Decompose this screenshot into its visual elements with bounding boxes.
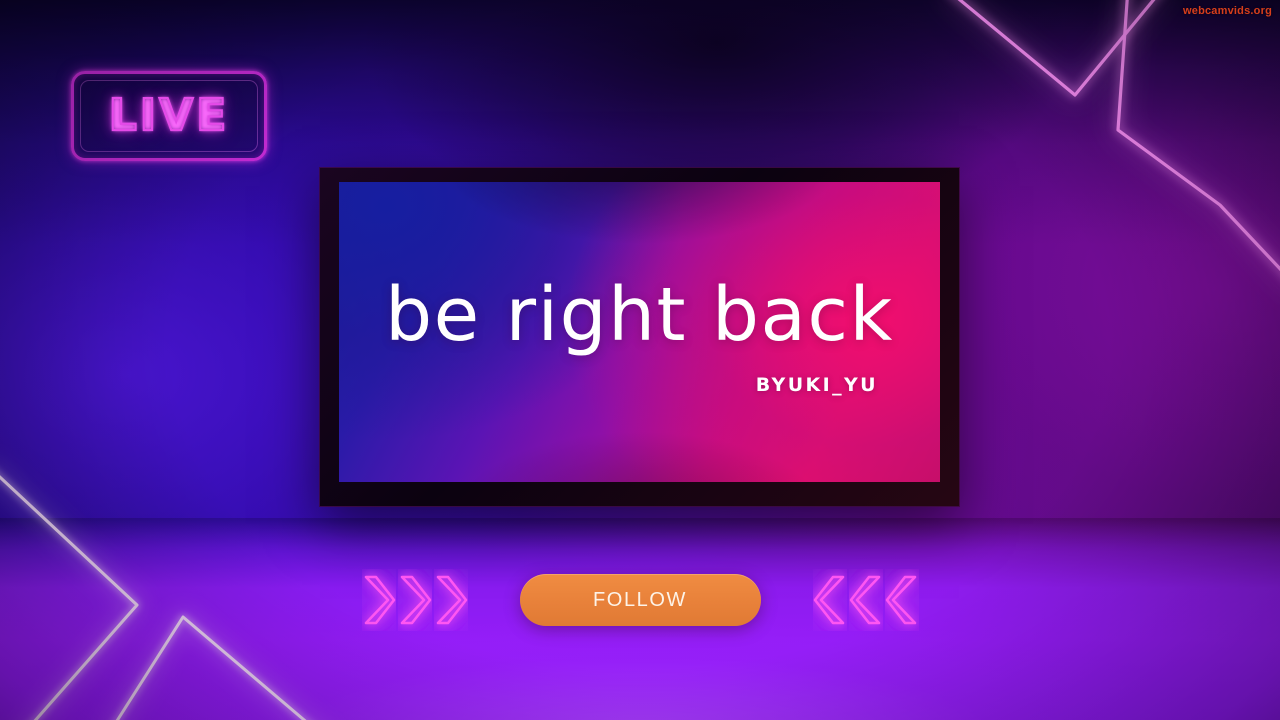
call-to-action-row: FOLLOW: [0, 568, 1280, 632]
neon-line-bottom-left-lower: [108, 617, 330, 720]
chevron-left-icon: [813, 569, 847, 631]
wall-screen: be right back BYUKI_YU: [339, 182, 940, 482]
chevron-right-icon: [434, 569, 468, 631]
chevron-right-icon: [362, 569, 396, 631]
right-chevron-group: [813, 569, 919, 631]
be-right-back-title: be right back: [385, 278, 894, 352]
live-badge-label: LIVE: [109, 94, 230, 138]
left-chevron-group: [362, 569, 468, 631]
neon-line-top-right-outer: [948, 0, 1165, 95]
chevron-right-icon: [398, 569, 432, 631]
streamer-handle-label: BYUKI_YU: [756, 374, 878, 396]
screen-content: be right back BYUKI_YU: [339, 182, 940, 482]
stream-overlay-stage: LIVE be right back BYUKI_YU: [0, 0, 1280, 720]
site-watermark: webcamvids.org: [1183, 5, 1272, 17]
chevron-left-icon: [849, 569, 883, 631]
wall-screen-frame: be right back BYUKI_YU: [320, 168, 959, 506]
chevron-left-icon: [885, 569, 919, 631]
background-floor-seam: [0, 518, 1280, 552]
follow-button[interactable]: FOLLOW: [520, 574, 761, 626]
neon-line-top-right-inner: [1118, 0, 1280, 290]
live-badge: LIVE: [71, 71, 267, 161]
